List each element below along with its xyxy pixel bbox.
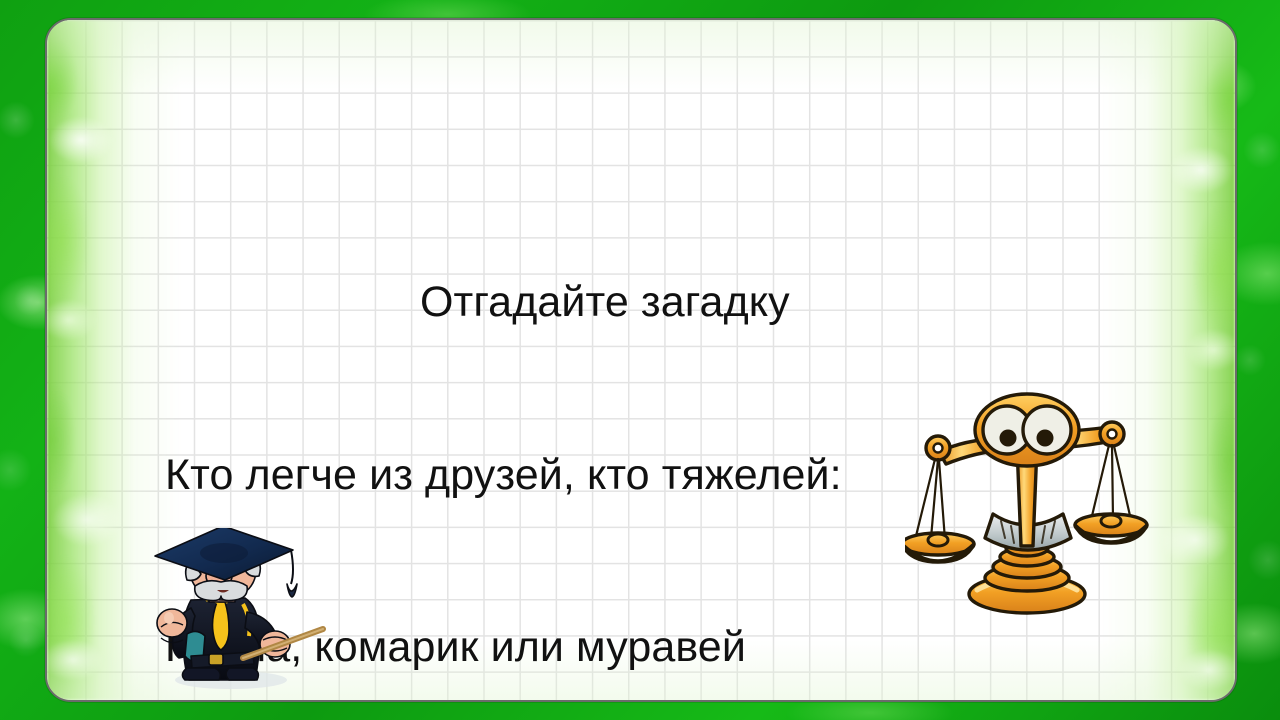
slide-root: Отгадайте загадку Кто легче из друзей, к…	[0, 0, 1280, 720]
balance-scale-icon	[905, 388, 1149, 620]
professor-image	[147, 528, 332, 693]
riddle-title: Отгадайте загадку	[47, 274, 1237, 332]
balance-scale-image	[905, 388, 1149, 620]
paper-panel: Отгадайте загадку Кто легче из друзей, к…	[45, 18, 1237, 702]
professor-icon	[147, 528, 332, 693]
